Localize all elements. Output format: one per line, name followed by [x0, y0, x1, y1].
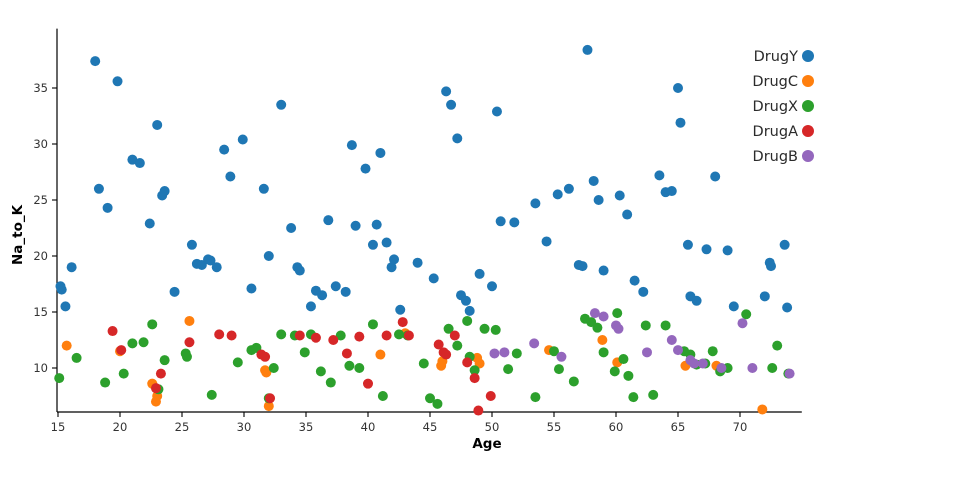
data-point	[542, 236, 552, 246]
data-point	[708, 346, 718, 356]
x-axis-label: Age	[472, 436, 501, 452]
data-point	[378, 391, 388, 401]
data-point	[361, 164, 371, 174]
data-point	[419, 359, 429, 369]
series-drugx	[54, 308, 793, 409]
data-point	[108, 326, 118, 336]
y-tick-label-10: 10	[33, 361, 48, 375]
legend-marker-druga[interactable]	[802, 125, 814, 137]
data-point	[276, 329, 286, 339]
data-point	[233, 357, 243, 367]
data-point	[716, 363, 726, 373]
data-point	[675, 118, 685, 128]
y-tick-label-30: 30	[33, 137, 48, 151]
legend-label-drugx[interactable]: DrugX	[753, 99, 799, 115]
data-point	[487, 281, 497, 291]
data-point	[328, 335, 338, 345]
data-point	[156, 369, 166, 379]
data-point	[62, 341, 72, 351]
data-point	[667, 186, 677, 196]
data-point	[496, 216, 506, 226]
data-point	[470, 373, 480, 383]
data-point	[441, 86, 451, 96]
data-point	[160, 355, 170, 365]
data-point	[556, 352, 566, 362]
data-point	[723, 245, 733, 255]
data-point	[259, 184, 269, 194]
data-point	[347, 140, 357, 150]
data-point	[151, 383, 161, 393]
data-point	[269, 363, 279, 373]
data-point	[461, 296, 471, 306]
data-point	[772, 341, 782, 351]
data-point	[354, 332, 364, 342]
legend-marker-drugb[interactable]	[802, 150, 814, 162]
data-point	[569, 376, 579, 386]
data-point	[395, 305, 405, 315]
data-point	[368, 319, 378, 329]
data-point	[553, 189, 563, 199]
data-point	[341, 287, 351, 297]
data-point	[578, 261, 588, 271]
axes-group: 101520253035152025303540455055606570	[33, 29, 801, 434]
data-point	[354, 363, 364, 373]
data-point	[413, 258, 423, 268]
data-point	[615, 191, 625, 201]
data-point	[628, 392, 638, 402]
data-point	[54, 373, 64, 383]
y-tick-label-15: 15	[33, 305, 48, 319]
data-point	[432, 399, 442, 409]
data-point	[306, 301, 316, 311]
data-point	[372, 220, 382, 230]
data-point	[486, 391, 496, 401]
data-point	[667, 335, 677, 345]
data-point	[67, 262, 77, 272]
data-point	[737, 318, 747, 328]
data-point	[648, 390, 658, 400]
data-point	[729, 301, 739, 311]
data-point	[612, 308, 622, 318]
data-point	[207, 390, 217, 400]
data-point	[103, 203, 113, 213]
data-point	[654, 170, 664, 180]
x-tick-label-25: 25	[175, 420, 190, 434]
series-drugb	[489, 308, 794, 378]
data-point	[766, 261, 776, 271]
legend-label-druga[interactable]: DrugA	[753, 124, 799, 140]
data-point	[127, 338, 137, 348]
data-point	[119, 369, 129, 379]
data-point	[219, 145, 229, 155]
data-point	[592, 323, 602, 333]
legend-label-drugb[interactable]: DrugB	[753, 149, 798, 165]
legend-marker-drugc[interactable]	[802, 75, 814, 87]
data-point	[618, 354, 628, 364]
data-point	[276, 100, 286, 110]
data-point	[135, 158, 145, 168]
data-point	[610, 366, 620, 376]
data-point	[452, 133, 462, 143]
data-point	[785, 369, 795, 379]
data-point	[529, 338, 539, 348]
data-point	[286, 223, 296, 233]
data-point	[331, 281, 341, 291]
data-point	[622, 210, 632, 220]
data-point	[375, 148, 385, 158]
data-point	[382, 331, 392, 341]
data-point	[741, 309, 751, 319]
data-point	[184, 316, 194, 326]
data-point	[760, 291, 770, 301]
data-point	[452, 341, 462, 351]
data-point	[90, 56, 100, 66]
data-point	[594, 195, 604, 205]
data-point	[446, 100, 456, 110]
data-points-group	[54, 45, 794, 416]
legend-label-drugc[interactable]: DrugC	[752, 74, 798, 90]
series-drugy	[55, 45, 792, 316]
data-point	[630, 276, 640, 286]
x-tick-label-70: 70	[733, 420, 748, 434]
legend-label-drugy[interactable]: DrugY	[754, 49, 799, 65]
data-point	[473, 406, 483, 416]
x-tick-label-60: 60	[609, 420, 624, 434]
data-point	[599, 311, 609, 321]
data-point	[673, 83, 683, 93]
data-point	[152, 120, 162, 130]
data-point	[398, 317, 408, 327]
data-point	[509, 217, 519, 227]
data-point	[661, 320, 671, 330]
data-point	[462, 316, 472, 326]
data-point	[116, 345, 126, 355]
data-point	[599, 266, 609, 276]
data-point	[480, 324, 490, 334]
data-point	[260, 352, 270, 362]
data-point	[212, 262, 222, 272]
data-point	[499, 347, 509, 357]
data-point	[238, 135, 248, 145]
data-point	[170, 287, 180, 297]
data-point	[767, 363, 777, 373]
data-point	[160, 186, 170, 196]
data-point	[246, 283, 256, 293]
data-point	[623, 371, 633, 381]
legend-marker-drugy[interactable]	[802, 50, 814, 62]
plot-canvas: 101520253035152025303540455055606570 Age…	[0, 0, 960, 500]
data-point	[182, 352, 192, 362]
data-point	[710, 171, 720, 181]
y-tick-label-35: 35	[33, 81, 48, 95]
x-tick-label-35: 35	[299, 420, 314, 434]
data-point	[368, 240, 378, 250]
data-point	[689, 359, 699, 369]
data-point	[530, 392, 540, 402]
data-point	[450, 331, 460, 341]
legend: DrugYDrugCDrugXDrugADrugB	[752, 49, 814, 165]
data-point	[316, 366, 326, 376]
data-point	[100, 378, 110, 388]
y-axis-label: Na_to_K	[10, 204, 26, 265]
data-point	[295, 266, 305, 276]
y-tick-label-20: 20	[33, 249, 48, 263]
data-point	[60, 301, 70, 311]
data-point	[564, 184, 574, 194]
data-point	[342, 348, 352, 358]
x-tick-label-45: 45	[423, 420, 438, 434]
data-point	[491, 325, 501, 335]
data-point	[642, 347, 652, 357]
data-point	[311, 333, 321, 343]
data-point	[503, 364, 513, 374]
data-point	[641, 320, 651, 330]
data-point	[187, 240, 197, 250]
data-point	[57, 285, 67, 295]
data-point	[139, 337, 149, 347]
data-point	[554, 364, 564, 374]
data-point	[351, 221, 361, 231]
data-point	[145, 219, 155, 229]
data-point	[530, 198, 540, 208]
data-point	[613, 324, 623, 334]
x-tick-label-55: 55	[547, 420, 562, 434]
data-point	[757, 404, 767, 414]
x-tick-label-20: 20	[113, 420, 128, 434]
data-point	[317, 290, 327, 300]
data-point	[590, 308, 600, 318]
data-point	[465, 306, 475, 316]
data-point	[492, 107, 502, 117]
data-point	[698, 359, 708, 369]
data-point	[597, 335, 607, 345]
data-point	[300, 347, 310, 357]
scatter-plot-figure: 101520253035152025303540455055606570 Age…	[0, 0, 960, 500]
x-tick-label-15: 15	[51, 420, 66, 434]
data-point	[582, 45, 592, 55]
data-point	[363, 379, 373, 389]
data-point	[94, 184, 104, 194]
data-point	[589, 176, 599, 186]
legend-marker-drugx[interactable]	[802, 100, 814, 112]
data-point	[225, 171, 235, 181]
data-point	[638, 287, 648, 297]
data-point	[692, 296, 702, 306]
data-point	[326, 378, 336, 388]
data-point	[214, 329, 224, 339]
data-point	[512, 348, 522, 358]
data-point	[323, 215, 333, 225]
data-point	[394, 329, 404, 339]
y-tick-label-25: 25	[33, 193, 48, 207]
data-point	[489, 348, 499, 358]
data-point	[389, 254, 399, 264]
data-point	[673, 345, 683, 355]
data-point	[227, 331, 237, 341]
data-point	[683, 240, 693, 250]
data-point	[475, 269, 485, 279]
data-point	[599, 347, 609, 357]
data-point	[295, 331, 305, 341]
data-point	[780, 240, 790, 250]
data-point	[462, 357, 472, 367]
data-point	[404, 331, 414, 341]
x-tick-label-65: 65	[671, 420, 686, 434]
data-point	[441, 350, 451, 360]
data-point	[344, 361, 354, 371]
data-point	[265, 393, 275, 403]
x-tick-label-30: 30	[237, 420, 252, 434]
data-point	[382, 238, 392, 248]
data-point	[72, 353, 82, 363]
data-point	[113, 76, 123, 86]
data-point	[702, 244, 712, 254]
data-point	[782, 303, 792, 313]
x-tick-label-50: 50	[485, 420, 500, 434]
data-point	[429, 273, 439, 283]
data-point	[184, 337, 194, 347]
data-point	[747, 363, 757, 373]
x-tick-label-40: 40	[361, 420, 376, 434]
series-drugc	[62, 316, 768, 414]
data-point	[264, 251, 274, 261]
data-point	[375, 350, 385, 360]
data-point	[147, 319, 157, 329]
